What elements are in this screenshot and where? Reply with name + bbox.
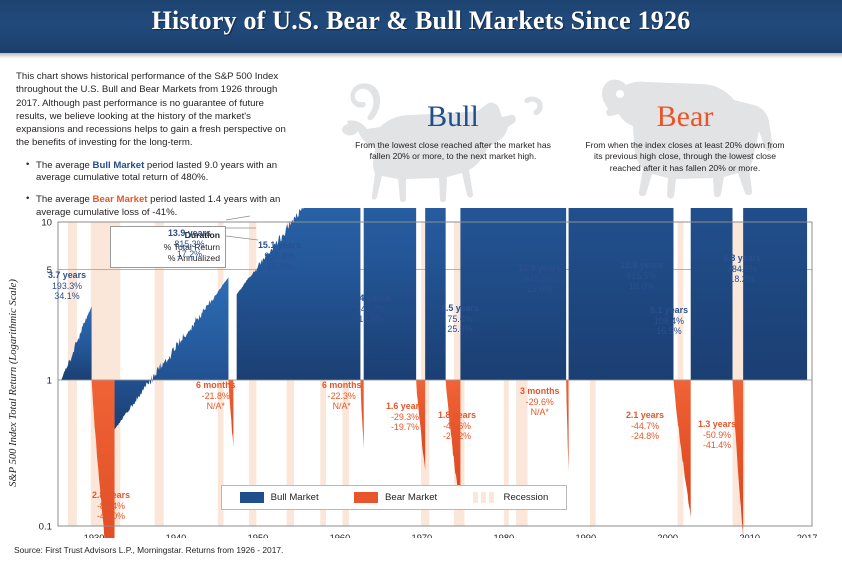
y-tick-label: 10 [41, 218, 52, 229]
source-footnote: Source: First Trust Advisors L.P., Morni… [14, 545, 283, 555]
label-duration: 2.8 years [92, 490, 130, 501]
label-annualized: 19.0% [620, 281, 663, 292]
page-title: History of U.S. Bear & Bull Markets Sinc… [0, 6, 842, 36]
label-annualized: N/A* [196, 401, 235, 412]
bear-heading: Bear [572, 100, 798, 134]
x-tick-label: 1980 [493, 533, 514, 538]
label-annualized: 19.0% [518, 284, 561, 295]
label-annualized: -47.0% [92, 511, 130, 522]
y-axis-ticks: 10510.1 [39, 218, 52, 533]
label-annualized: 14.9% [352, 314, 390, 325]
label-annualized: 34.1% [48, 291, 86, 302]
bullet-pre-text: The average [36, 194, 93, 205]
label-duration: 3.7 years [48, 270, 86, 281]
legend-item-recession: Recession [473, 492, 549, 503]
chart-legend: Bull Market Bear Market Recession [221, 485, 567, 510]
bear-market-keyword: Bear Market [93, 194, 148, 205]
label-total-return: 75.6% [441, 314, 479, 325]
bull-market-label: 12.8 years816.5%19.0% [620, 260, 663, 292]
legend-item-bull: Bull Market [240, 492, 319, 503]
label-annualized: 16.8% [258, 261, 301, 272]
bear-silhouette-icon [572, 72, 798, 202]
label-annualized: 15.5% [650, 326, 688, 337]
label-duration: 2.5 years [441, 303, 479, 314]
legend-label: Bull Market [271, 492, 319, 503]
bull-market-label: 12.9 years845.2%19.0% [518, 263, 561, 295]
label-duration: 3 months [520, 386, 559, 397]
bull-definition-panel: Bull From the lowest close reached after… [340, 72, 566, 202]
y-tick-label: 0.1 [39, 522, 52, 533]
label-total-return: 815.3% [168, 239, 211, 250]
label-total-return: -42.6% [438, 421, 476, 432]
label-annualized: -24.8% [626, 431, 664, 442]
label-total-return: 193.3% [48, 281, 86, 292]
label-total-return: 143.7% [352, 304, 390, 315]
bear-market-label: 1.8 years-42.6%-27.2% [438, 410, 476, 442]
y-tick-label: 1 [47, 376, 52, 387]
label-annualized: N/A* [322, 401, 361, 412]
label-total-return: 108.4% [650, 316, 688, 327]
label-total-return: -50.9% [698, 430, 736, 441]
label-duration: 6.4 years [352, 293, 390, 304]
bull-market-label: 13.9 years815.3%17.2% [168, 228, 211, 260]
label-total-return: -29.6% [520, 397, 559, 408]
label-total-return: 935.8% [258, 251, 301, 262]
x-tick-label: 1970 [412, 533, 433, 538]
y-axis-label: S&P 500 Index Total Return (Logarithmic … [8, 279, 19, 487]
label-duration: 12.9 years [518, 263, 561, 274]
label-duration: 1.8 years [438, 410, 476, 421]
label-total-return: -22.3% [322, 391, 361, 402]
bull-silhouette-icon [340, 72, 566, 202]
bear-market-label: 1.6 years-29.3%-19.7% [386, 401, 424, 433]
x-tick-label: 1990 [575, 533, 596, 538]
bull-market-label: 15.1 years935.8%16.8% [258, 240, 301, 272]
label-total-return: -44.7% [626, 421, 664, 432]
label-total-return: 384.5% [723, 264, 761, 275]
legend-label: Recession [504, 492, 549, 503]
intro-paragraph: This chart shows historical performance … [16, 70, 292, 150]
label-total-return: -21.8% [196, 391, 235, 402]
label-duration: 5.1 years [650, 305, 688, 316]
x-tick-label: 1960 [330, 533, 351, 538]
bull-market-label: 8.8 years384.5%18.2% [723, 253, 761, 285]
label-duration: 1.6 years [386, 401, 424, 412]
label-duration: 6 months [322, 380, 361, 391]
label-annualized: 18.2% [723, 274, 761, 285]
bear-market-label: 3 months-29.6%N/A* [520, 386, 559, 418]
label-total-return: 816.5% [620, 271, 663, 282]
bull-market-label: 5.1 years108.4%15.5% [650, 305, 688, 337]
x-tick-label: 1940 [166, 533, 187, 538]
x-tick-label: 1950 [248, 533, 269, 538]
x-tick-label: 1930 [84, 533, 105, 538]
label-total-return: -83.4% [92, 501, 130, 512]
label-duration: 1.3 years [698, 419, 736, 430]
label-annualized: 17.2% [168, 249, 211, 260]
bear-market-label: 6 months-21.8%N/A* [196, 380, 235, 412]
bull-market-label: 2.5 years75.6%25.3% [441, 303, 479, 335]
bear-swatch-icon [354, 492, 378, 503]
label-total-return: 845.2% [518, 274, 561, 285]
x-axis-ticks: 1930194019501960197019801990200020102017 [84, 533, 818, 538]
label-duration: 12.8 years [620, 260, 663, 271]
label-duration: 6 months [196, 380, 235, 391]
x-tick-label: 2010 [739, 533, 760, 538]
bear-market-label: 6 months-22.3%N/A* [322, 380, 361, 412]
bull-market-label: 6.4 years143.7%14.9% [352, 293, 390, 325]
label-annualized: 25.3% [441, 324, 479, 335]
bear-market-label: 2.8 years-83.4%-47.0% [92, 490, 130, 522]
label-total-return: -29.3% [386, 412, 424, 423]
legend-item-bear: Bear Market [354, 492, 437, 503]
recession-swatch-icon [473, 492, 497, 503]
bear-definition-text: From when the index closes at least 20% … [572, 140, 798, 174]
intro-block: This chart shows historical performance … [16, 70, 292, 228]
header-divider [0, 53, 842, 59]
label-duration: 2.1 years [626, 410, 664, 421]
label-annualized: -27.2% [438, 431, 476, 442]
bear-market-label: 1.3 years-50.9%-41.4% [698, 419, 736, 451]
bear-definition-panel: Bear From when the index closes at least… [572, 72, 798, 202]
x-tick-label: 2017 [797, 533, 818, 538]
label-duration: 8.8 years [723, 253, 761, 264]
label-annualized: N/A* [520, 407, 559, 418]
label-duration: 13.9 years [168, 228, 211, 239]
bull-market-label: 3.7 years193.3%34.1% [48, 270, 86, 302]
bull-market-keyword: Bull Market [93, 160, 145, 171]
label-annualized: -41.4% [698, 440, 736, 451]
bull-bear-chart: 10510.1 19301940195019601970198019902000… [0, 208, 842, 538]
label-duration: 15.1 years [258, 240, 301, 251]
bull-heading: Bull [340, 100, 566, 134]
list-item: The average Bull Market period lasted 9.… [26, 160, 292, 185]
legend-label: Bear Market [385, 492, 437, 503]
bull-swatch-icon [240, 492, 264, 503]
bear-market-label: 2.1 years-44.7%-24.8% [626, 410, 664, 442]
bull-definition-text: From the lowest close reached after the … [340, 140, 566, 163]
label-annualized: -19.7% [386, 422, 424, 433]
bullet-pre-text: The average [36, 160, 93, 171]
x-tick-label: 2000 [657, 533, 678, 538]
